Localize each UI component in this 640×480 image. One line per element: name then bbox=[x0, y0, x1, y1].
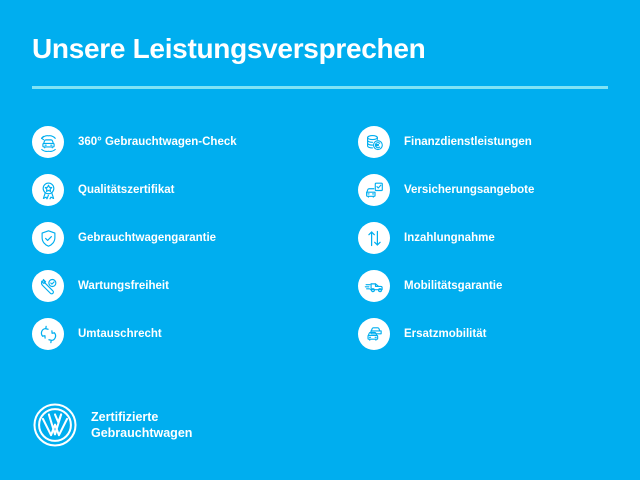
list-item[interactable]: Inzahlungnahme bbox=[358, 214, 640, 262]
promises-grid: 360° Gebrauchtwagen-Check Qualitätszerti… bbox=[0, 118, 640, 358]
swap-arrows-icon bbox=[32, 318, 64, 350]
shield-check-icon bbox=[32, 222, 64, 254]
coins-euro-icon bbox=[358, 126, 390, 158]
arrows-up-down-icon bbox=[358, 222, 390, 254]
list-item[interactable]: Versicherungsangebote bbox=[358, 166, 640, 214]
list-item-label: 360° Gebrauchtwagen-Check bbox=[78, 135, 237, 149]
list-item-label: Umtauschrecht bbox=[78, 327, 162, 341]
list-item-label: Mobilitätsgarantie bbox=[404, 279, 502, 293]
list-item[interactable]: Ersatzmobilität bbox=[358, 310, 640, 358]
brand-text-line2: Gebrauchtwagen bbox=[91, 426, 192, 440]
list-item-label: Inzahlungnahme bbox=[404, 231, 495, 245]
two-cars-icon bbox=[358, 318, 390, 350]
list-item[interactable]: Qualitätszertifikat bbox=[32, 166, 320, 214]
promises-column-right: Finanzdienstleistungen Versicherungsange… bbox=[320, 118, 640, 358]
list-item[interactable]: Umtauschrecht bbox=[32, 310, 320, 358]
list-item-label: Ersatzmobilität bbox=[404, 327, 486, 341]
list-item[interactable]: Gebrauchtwagengarantie bbox=[32, 214, 320, 262]
list-item[interactable]: Finanzdienstleistungen bbox=[358, 118, 640, 166]
list-item-label: Wartungsfreiheit bbox=[78, 279, 169, 293]
wrench-check-icon bbox=[32, 270, 64, 302]
award-rosette-icon bbox=[32, 174, 64, 206]
list-item-label: Qualitätszertifikat bbox=[78, 183, 175, 197]
car-document-check-icon bbox=[358, 174, 390, 206]
list-item-label: Versicherungsangebote bbox=[404, 183, 534, 197]
brand-lockup: Zertifizierte Gebrauchtwagen bbox=[32, 402, 192, 448]
volkswagen-logo-icon bbox=[32, 402, 78, 448]
page-title: Unsere Leistungsversprechen bbox=[32, 32, 612, 66]
promises-column-left: 360° Gebrauchtwagen-Check Qualitätszerti… bbox=[0, 118, 320, 358]
brand-text: Zertifizierte Gebrauchtwagen bbox=[91, 409, 192, 441]
car-360-check-icon bbox=[32, 126, 64, 158]
list-item-label: Gebrauchtwagengarantie bbox=[78, 231, 216, 245]
list-item[interactable]: Wartungsfreiheit bbox=[32, 262, 320, 310]
list-item[interactable]: Mobilitätsgarantie bbox=[358, 262, 640, 310]
van-motion-icon bbox=[358, 270, 390, 302]
header-divider bbox=[32, 86, 608, 89]
brand-text-line1: Zertifizierte bbox=[91, 410, 158, 424]
slide-root: Unsere Leistungsversprechen 360° Ge bbox=[0, 0, 640, 480]
list-item-label: Finanzdienstleistungen bbox=[404, 135, 532, 149]
list-item[interactable]: 360° Gebrauchtwagen-Check bbox=[32, 118, 320, 166]
